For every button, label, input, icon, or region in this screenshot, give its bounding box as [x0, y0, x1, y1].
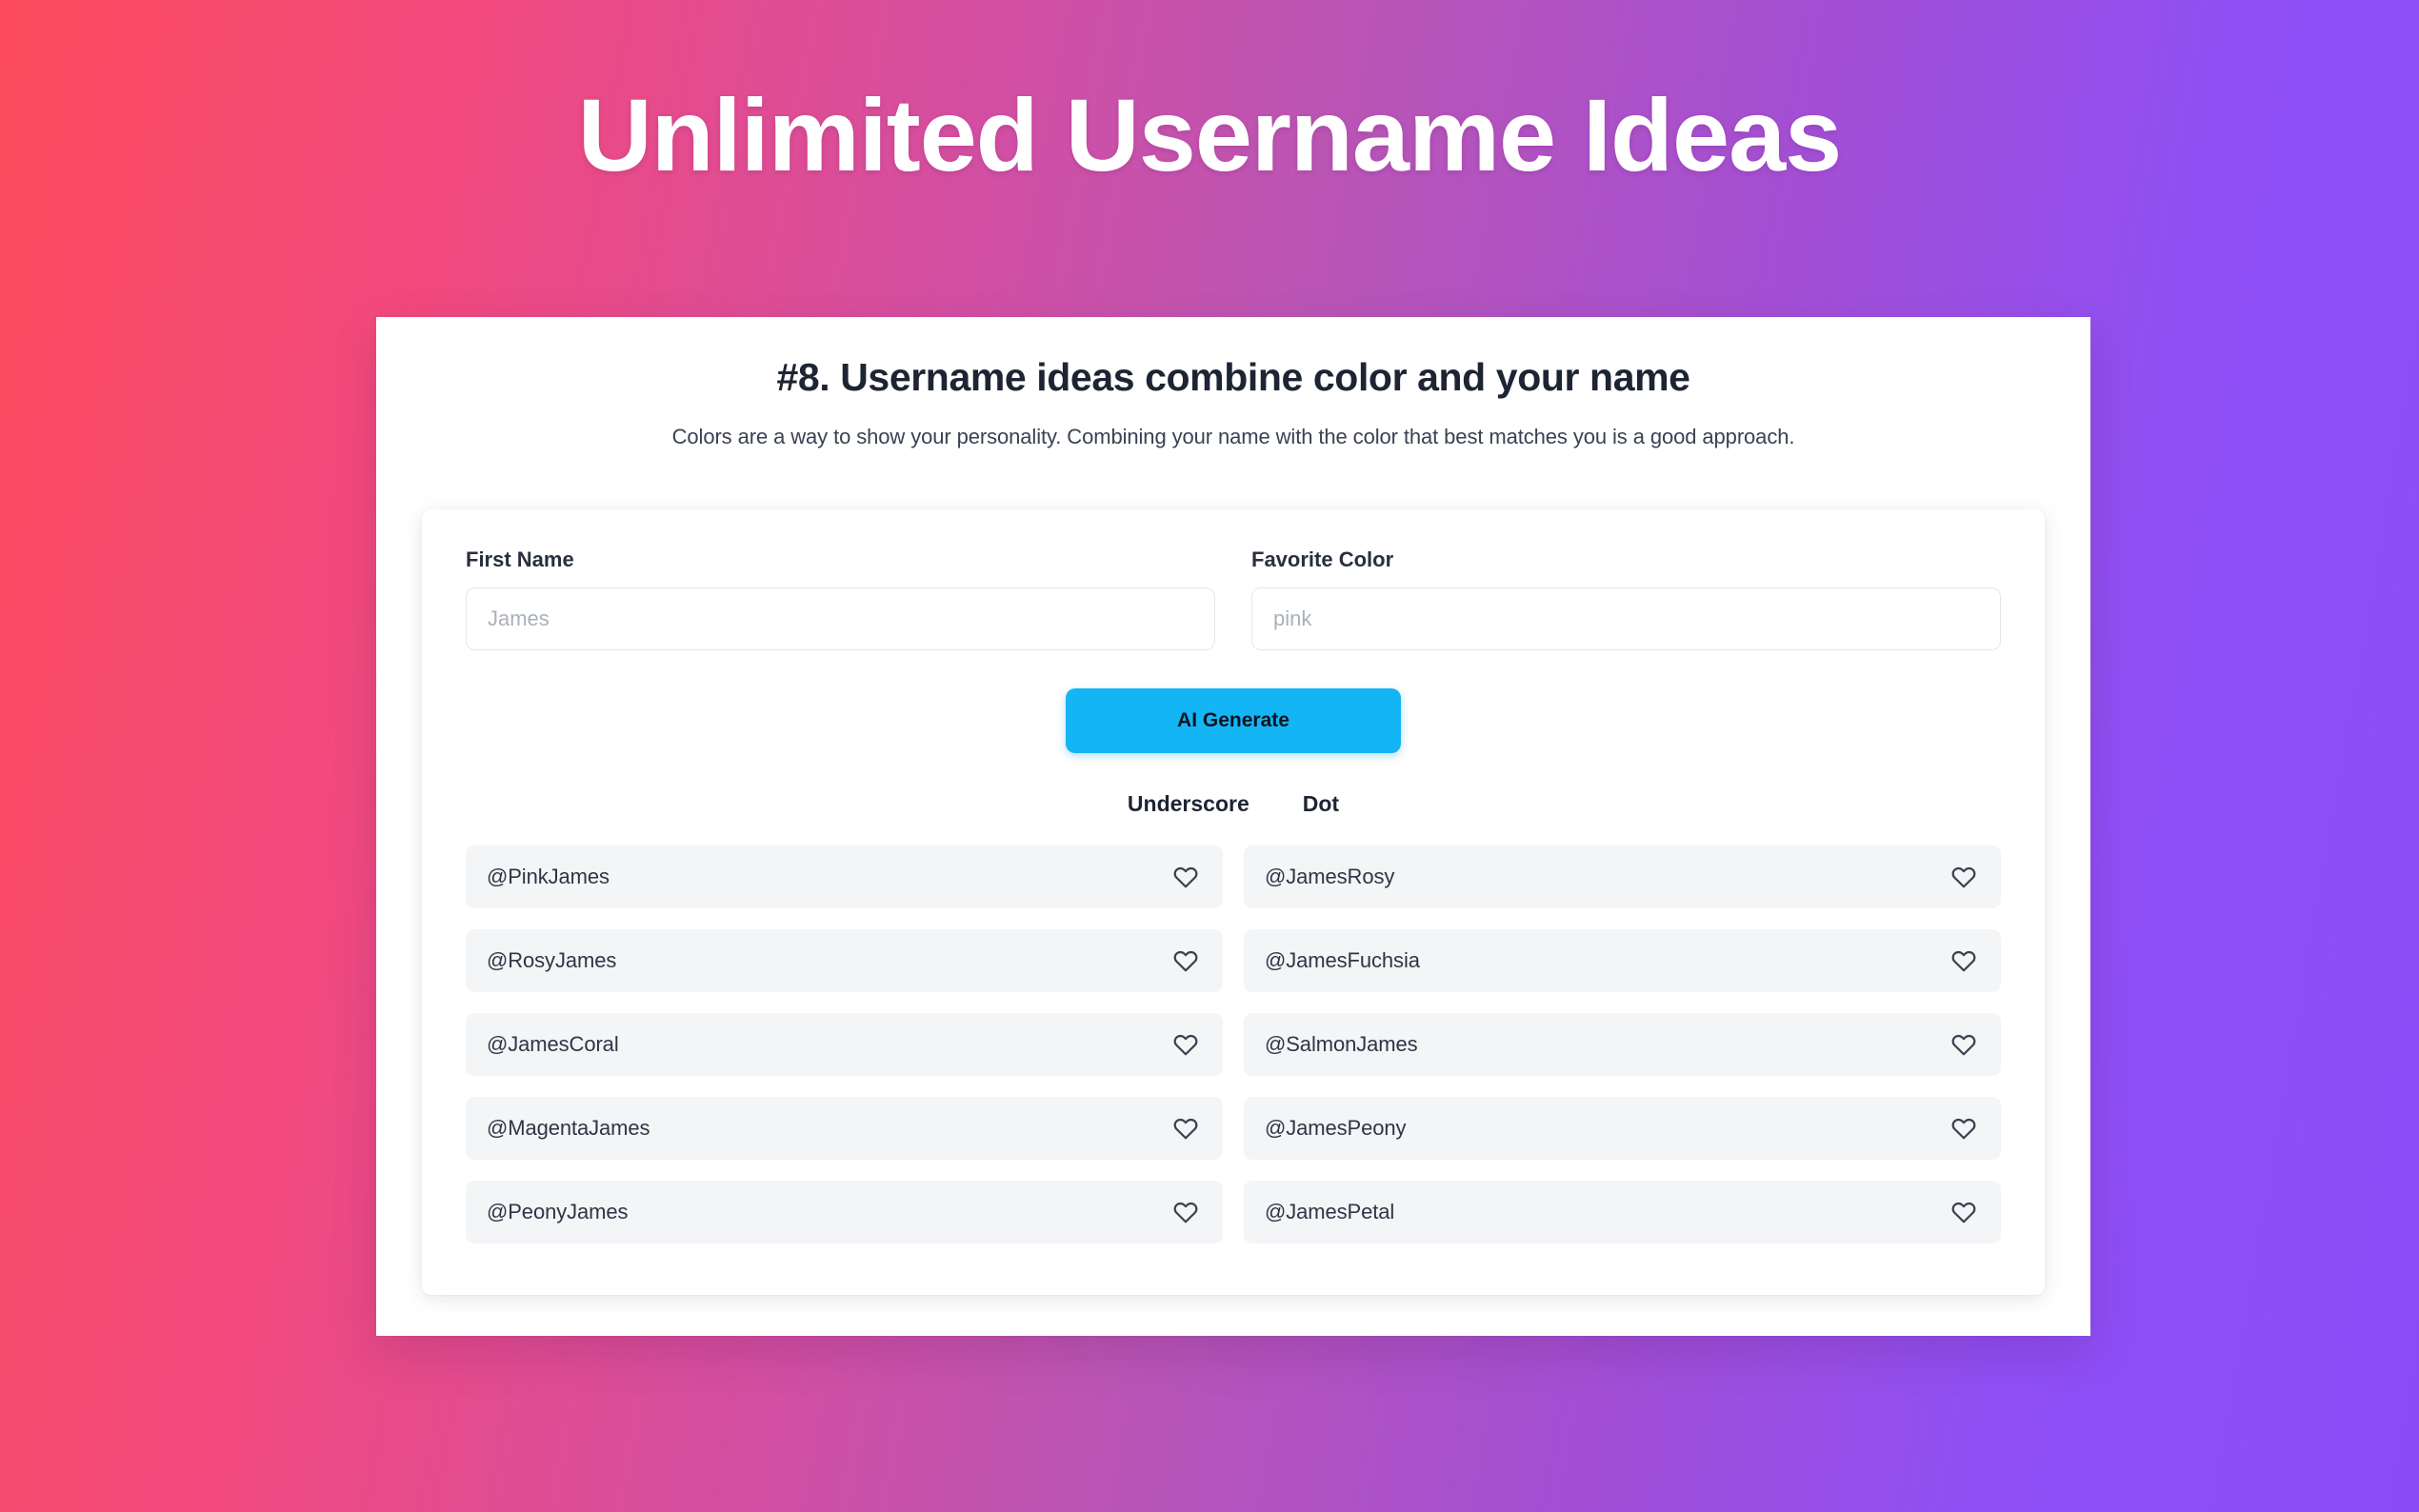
username-text: @JamesPeony [1265, 1116, 1406, 1141]
username-row[interactable]: @PinkJames [466, 846, 1223, 908]
username-row[interactable]: @JamesFuchsia [1244, 929, 2001, 992]
username-text: @JamesFuchsia [1265, 948, 1420, 973]
heart-outline-icon[interactable] [1171, 1030, 1200, 1059]
heart-outline-icon[interactable] [1949, 1114, 1978, 1143]
heart-outline-icon[interactable] [1171, 1114, 1200, 1143]
username-text: @JamesPetal [1265, 1200, 1394, 1224]
form-fields: First Name Favorite Color [422, 509, 2045, 650]
content-card: #8. Username ideas combine color and you… [376, 317, 2090, 1336]
username-text: @SalmonJames [1265, 1032, 1418, 1057]
username-row[interactable]: @JamesRosy [1244, 846, 2001, 908]
username-row[interactable]: @SalmonJames [1244, 1013, 2001, 1076]
favorite-color-label: Favorite Color [1251, 547, 2001, 572]
heart-outline-icon[interactable] [1171, 946, 1200, 975]
first-name-label: First Name [466, 547, 1215, 572]
card-subtitle: Colors are a way to show your personalit… [376, 425, 2090, 449]
favorite-color-field-group: Favorite Color [1251, 547, 2001, 650]
username-text: @RosyJames [487, 948, 616, 973]
results-column-dot: @JamesRosy@JamesFuchsia@SalmonJames@Jame… [1244, 846, 2001, 1243]
heart-outline-icon[interactable] [1171, 863, 1200, 891]
heart-outline-icon[interactable] [1949, 1030, 1978, 1059]
generator-panel: First Name Favorite Color AI Generate Un… [422, 509, 2045, 1295]
heart-outline-icon[interactable] [1949, 1198, 1978, 1226]
username-row[interactable]: @PeonyJames [466, 1181, 1223, 1243]
results-column-underscore: @PinkJames@RosyJames@JamesCoral@MagentaJ… [466, 846, 1223, 1243]
page-title: Unlimited Username Ideas [0, 80, 2419, 191]
favorite-color-input[interactable] [1251, 587, 2001, 650]
heart-outline-icon[interactable] [1949, 863, 1978, 891]
first-name-field-group: First Name [466, 547, 1215, 650]
tab-dot[interactable]: Dot [1303, 791, 1339, 817]
heart-outline-icon[interactable] [1949, 946, 1978, 975]
username-row[interactable]: @JamesCoral [466, 1013, 1223, 1076]
username-row[interactable]: @RosyJames [466, 929, 1223, 992]
format-tabs: Underscore Dot [422, 791, 2045, 817]
username-row[interactable]: @JamesPetal [1244, 1181, 2001, 1243]
card-heading: #8. Username ideas combine color and you… [376, 355, 2090, 400]
ai-generate-button[interactable]: AI Generate [1066, 688, 1401, 753]
username-text: @MagentaJames [487, 1116, 650, 1141]
username-row[interactable]: @MagentaJames [466, 1097, 1223, 1160]
username-row[interactable]: @JamesPeony [1244, 1097, 2001, 1160]
first-name-input[interactable] [466, 587, 1215, 650]
results-grid: @PinkJames@RosyJames@JamesCoral@MagentaJ… [422, 817, 2045, 1243]
username-text: @PinkJames [487, 865, 610, 889]
username-text: @JamesCoral [487, 1032, 619, 1057]
heart-outline-icon[interactable] [1171, 1198, 1200, 1226]
username-text: @PeonyJames [487, 1200, 628, 1224]
tab-underscore[interactable]: Underscore [1128, 791, 1249, 817]
generate-button-row: AI Generate [422, 688, 2045, 753]
username-text: @JamesRosy [1265, 865, 1394, 889]
